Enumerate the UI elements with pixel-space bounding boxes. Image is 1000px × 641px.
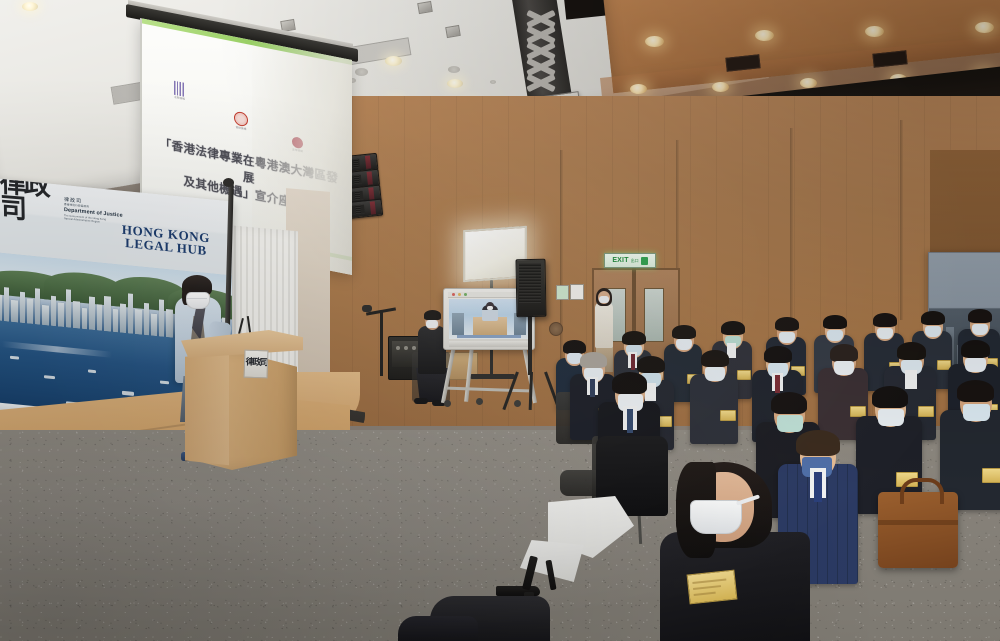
banner-pole-cap [223, 178, 234, 187]
doj-seal-calligraphy: 律政司 [0, 178, 53, 241]
attendee-hair [961, 340, 990, 358]
attendee-face-mask [676, 339, 692, 350]
boat [88, 369, 96, 373]
ceiling-fixture [445, 25, 461, 38]
attendee-hair [622, 331, 646, 345]
briefcase-handle [900, 478, 944, 504]
standing-attendee-torso [595, 302, 613, 348]
light-stand-base [470, 374, 515, 379]
attendee-face-mask [878, 409, 904, 426]
attendee-face-mask [877, 328, 893, 339]
mic-stand [380, 312, 383, 376]
slide-logo-1: 主辦機構 [174, 81, 185, 101]
attendee-face-mask [834, 361, 854, 375]
foreground-woman-face-mask [690, 500, 742, 534]
exit-sign: EXIT 出口 [604, 253, 656, 268]
soffit-downlight [645, 36, 664, 47]
attendee-tie [775, 375, 780, 393]
presenter-face-mask [186, 292, 210, 309]
equipment-knob[interactable] [412, 346, 416, 350]
soffit-downlight [865, 26, 884, 37]
crew-member-torso [418, 326, 446, 374]
monitor-indicator-green [464, 293, 467, 296]
foreground-silhouette [398, 616, 478, 641]
attendee-face-mask [963, 404, 990, 421]
attendee-face-mask [965, 358, 986, 372]
running-man-icon [641, 257, 648, 265]
podium-emblem-plaque: 律政司 [244, 350, 269, 379]
attendee-hair [764, 346, 792, 363]
logo-purple-icon [174, 81, 185, 97]
ceiling-downlight [22, 2, 38, 11]
crew-member-shoe [414, 398, 428, 404]
attendee-hair [775, 317, 799, 331]
monitor-indicator-red [452, 293, 455, 296]
microphone-icon [362, 305, 372, 312]
attendee-face-mask [705, 367, 725, 381]
attendee-face-mask [777, 415, 803, 432]
attendee-hair [872, 386, 908, 408]
attendee-torso [690, 374, 738, 444]
wall-seam [900, 120, 903, 320]
attendee-hair [921, 311, 945, 325]
ceiling-sensor [490, 80, 496, 84]
attendee-tie [631, 354, 635, 370]
attendee-name-badge [982, 468, 1000, 483]
ceiling-sprinkler [355, 68, 368, 76]
door-vision-panel [644, 288, 664, 342]
wall-notice [570, 284, 584, 300]
speaker-stand-pole [528, 313, 532, 375]
attendee-tie [590, 379, 595, 397]
attendee-hair [873, 313, 897, 327]
attendee-face-mask [779, 332, 795, 343]
face-mask-pleat [187, 298, 207, 299]
attendee-hair [771, 392, 807, 414]
attendee-shirt [905, 370, 917, 389]
exit-sign-label: EXIT [612, 257, 628, 264]
podium-side-panel [185, 352, 229, 470]
attendee-hair [957, 380, 994, 402]
wall-speaker-grille [549, 322, 563, 336]
attendee-name-badge [737, 370, 751, 380]
foreground-woman-name-badge [687, 570, 738, 605]
wall-notice [556, 285, 569, 300]
attendee-hair [830, 344, 858, 362]
attendee-hair [897, 342, 926, 360]
monitor-feed-caption-bar [457, 335, 521, 338]
monitor-indicator-amber [458, 293, 461, 296]
ceiling-downlight [385, 56, 402, 66]
attendee-hair [580, 352, 607, 368]
monitor-feed-left-block [452, 313, 464, 335]
ceiling-downlight [447, 79, 463, 88]
soffit-downlight [975, 22, 994, 33]
exit-sign-chinese: 出口 [631, 259, 639, 263]
monitor-feed-presenter-mask [487, 306, 493, 310]
attendee-hair [721, 321, 745, 335]
podium-emblem-text: 律政司 [245, 360, 266, 368]
attendee-hair [672, 325, 696, 339]
briefcase-band [878, 520, 958, 525]
logo-red-circle-icon [234, 111, 248, 128]
crew-member-hair [424, 310, 441, 320]
crew-member-face-mask [426, 320, 438, 328]
ceiling-sprinkler [448, 66, 460, 73]
soffit-downlight [630, 84, 647, 94]
attendee-hair [968, 309, 992, 323]
soffit-downlight [755, 30, 774, 41]
ceiling-fixture [417, 1, 433, 14]
slide-logo-2: 協辦機構 [234, 111, 248, 132]
soffit-downlight [800, 78, 817, 88]
attendee-name-badge [720, 410, 736, 421]
attendee-hair [796, 430, 840, 456]
monitor-bezel-bottom [449, 341, 529, 347]
easel-caster [444, 400, 451, 407]
easel-caster [514, 400, 521, 407]
attendee-hair [637, 356, 665, 373]
attendee-face-mask [972, 324, 988, 335]
hong-kong-legal-hub-logo: HONG KONG LEGAL HUB [122, 223, 210, 258]
attendee-name-badge [918, 406, 934, 417]
attendee-hair [823, 315, 847, 329]
attendee-face-mask [925, 326, 941, 337]
attendee-hair [612, 372, 647, 394]
attendee-hair [563, 340, 586, 354]
seminar-photo: EXIT 出口 主辦機構 協辦機構 支持機構 [0, 0, 1000, 641]
standing-attendee-face-mask [599, 296, 609, 303]
equipment-knob[interactable] [396, 346, 400, 350]
pa-speaker-grille [519, 263, 541, 303]
soffit-downlight [712, 82, 729, 92]
easel-caster [476, 398, 483, 405]
attendee-tie [814, 472, 822, 502]
slide-logo-2-caption: 協辦機構 [234, 126, 248, 132]
equipment-knob[interactable] [404, 346, 408, 350]
attendee-face-mask [827, 330, 843, 341]
attendee-hair [701, 350, 729, 367]
attendee-tie [627, 409, 633, 433]
